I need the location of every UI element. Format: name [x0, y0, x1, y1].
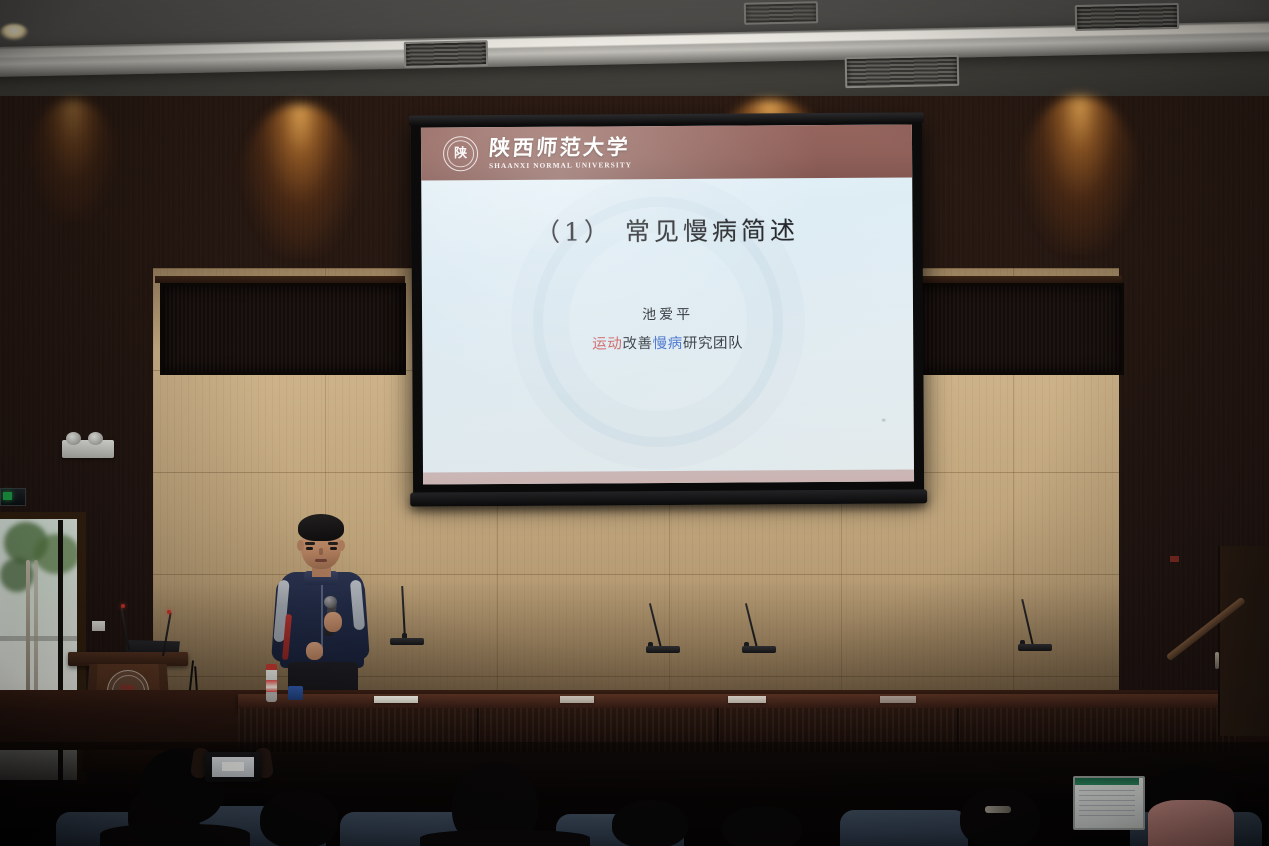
air-vent-icon: [1075, 3, 1180, 31]
team-part-2: 改善: [622, 336, 652, 352]
presenter-hand: [306, 642, 323, 660]
slide-title: （1） 常见慢病简述: [421, 211, 912, 250]
phone-camera-preview: [222, 762, 244, 771]
name-card: [880, 696, 916, 703]
name-card: [374, 696, 418, 703]
university-name-cn: 陕西师范大学: [488, 136, 633, 159]
emergency-lamp-icon: [88, 432, 103, 445]
presenter-nose: [319, 548, 323, 555]
presenter-mouth: [315, 559, 327, 562]
audience-head: [260, 790, 338, 846]
bottle-cap: [266, 664, 277, 670]
screen-speck: [882, 419, 886, 422]
presenter-hand: [324, 612, 342, 632]
university-name-en: SHAANXI NORMAL UNIVERSITY: [489, 161, 632, 170]
presenter-eyebrow: [328, 542, 338, 545]
acoustic-panel: [160, 283, 406, 375]
projection-screen: 陕 陕西师范大学 SHAANXI NORMAL UNIVERSITY （1） 常…: [411, 116, 924, 497]
audience-person: [1148, 800, 1234, 846]
audience-head: [612, 800, 688, 846]
slide-author: 池爱平: [422, 303, 913, 326]
air-vent-icon: [404, 40, 489, 68]
audience-head: [960, 788, 1040, 846]
name-card: [728, 696, 766, 703]
slide-team-line: 运动改善慢病研究团队: [422, 330, 913, 354]
lecture-hall-photo: 陕 陕西师范大学 SHAANXI NORMAL UNIVERSITY （1） 常…: [0, 0, 1269, 846]
cup[interactable]: [288, 686, 303, 700]
lectern-top: [68, 652, 188, 666]
exit-marker: [1170, 556, 1179, 562]
presenter-eye: [306, 547, 313, 550]
side-door[interactable]: [1218, 546, 1269, 736]
presentation-slide: 陕 陕西师范大学 SHAANXI NORMAL UNIVERSITY （1） 常…: [421, 125, 914, 485]
audience-shoulders: [420, 830, 590, 846]
team-part-1: 运动: [592, 336, 622, 352]
exit-sign-light-icon: [3, 492, 12, 500]
hair-clip: [985, 806, 1011, 813]
presenter-eyebrow: [305, 542, 315, 545]
university-seal-icon: 陕: [443, 136, 478, 171]
team-part-4: 研究团队: [683, 336, 744, 352]
door-handle[interactable]: [1215, 652, 1219, 669]
university-name-block: 陕西师范大学 SHAANXI NORMAL UNIVERSITY: [489, 136, 632, 169]
presenter-hair: [298, 514, 344, 541]
microphone-head-icon: [324, 596, 337, 608]
slide-header-band: 陕 陕西师范大学 SHAANXI NORMAL UNIVERSITY: [421, 125, 912, 181]
laptop-screen-content: [1079, 790, 1135, 820]
air-vent-icon: [845, 55, 960, 88]
name-card: [560, 696, 594, 703]
emergency-lamp-icon: [66, 432, 81, 445]
presenter-ear: [338, 540, 345, 551]
audience-head: [722, 806, 802, 846]
team-part-3: 慢病: [653, 336, 683, 352]
seal-character: 陕: [454, 147, 467, 160]
bottle-label: [266, 680, 277, 692]
presenter-eye: [330, 547, 337, 550]
laptop-titlebar: [1075, 778, 1139, 785]
air-vent-icon: [744, 1, 818, 25]
presenter: [272, 516, 372, 706]
presenter-ear: [297, 540, 304, 551]
seat: [840, 810, 968, 846]
panel-frame: [155, 276, 405, 283]
audience-shoulders: [100, 824, 250, 846]
ceiling-downlight-icon: [0, 24, 28, 40]
